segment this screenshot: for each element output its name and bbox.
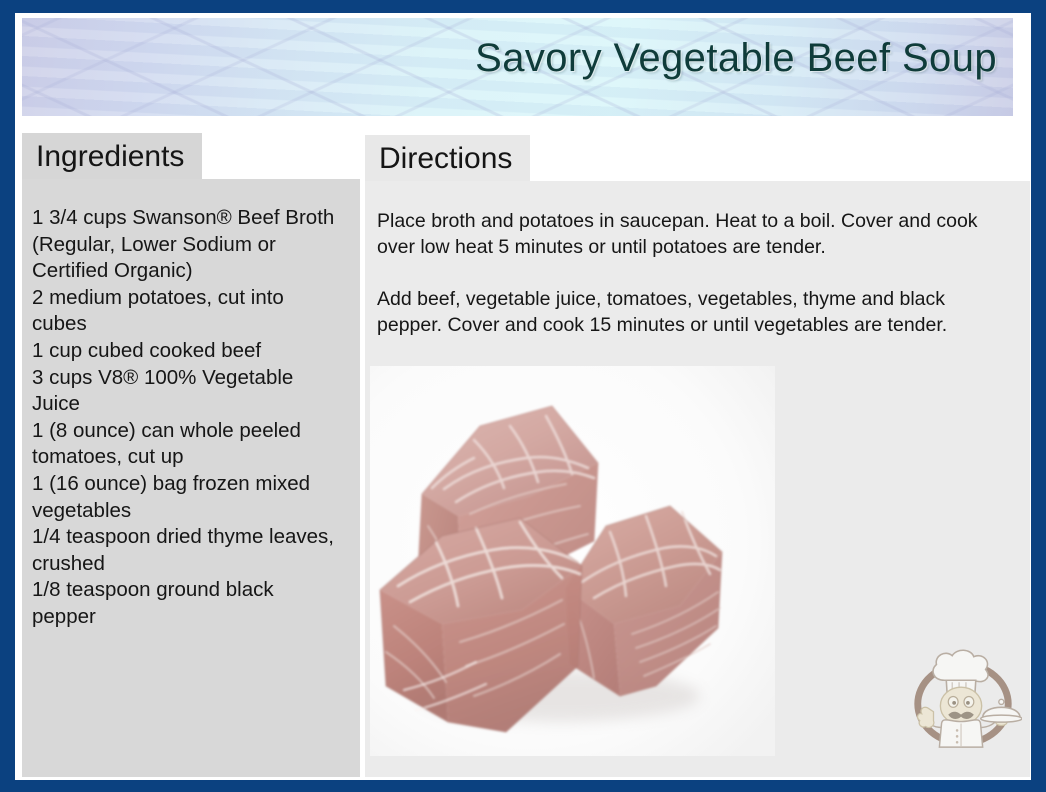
ingredients-panel: 1 3/4 cups Swanson® Beef Broth (Regular,… <box>22 179 360 777</box>
list-item: 1 (8 ounce) can whole peeled <box>32 418 352 445</box>
direction-step: Add beef, vegetable juice, tomatoes, veg… <box>377 286 1008 338</box>
list-item: 3 cups V8® 100% Vegetable <box>32 365 352 392</box>
tab-ingredients[interactable]: Ingredients <box>22 133 202 182</box>
list-item: Certified Organic) <box>32 258 352 285</box>
recipe-slide: Savory Vegetable Beef Soup Ingredients 1… <box>0 0 1046 792</box>
chef-logo-icon <box>904 637 1022 755</box>
tab-directions[interactable]: Directions <box>365 135 530 184</box>
directions-panel: Place broth and potatoes in saucepan. He… <box>365 181 1030 777</box>
list-item: vegetables <box>32 498 352 525</box>
list-item: 1/8 teaspoon ground black <box>32 577 352 604</box>
list-item: 1/4 teaspoon dried thyme leaves, <box>32 524 352 551</box>
list-item: 2 medium potatoes, cut into <box>32 285 352 312</box>
directions-text: Place broth and potatoes in saucepan. He… <box>365 181 1030 338</box>
list-item: pepper <box>32 604 352 631</box>
list-item: 1 cup cubed cooked beef <box>32 338 352 365</box>
page-title: Savory Vegetable Beef Soup <box>475 36 997 81</box>
list-item: 1 3/4 cups Swanson® Beef Broth <box>32 205 352 232</box>
ingredients-list: 1 3/4 cups Swanson® Beef Broth (Regular,… <box>22 179 360 631</box>
list-item: crushed <box>32 551 352 578</box>
list-item: (Regular, Lower Sodium or <box>32 232 352 259</box>
list-item: 1 (16 ounce) bag frozen mixed <box>32 471 352 498</box>
beef-cubes-photo <box>370 366 775 756</box>
slide-content-area: Savory Vegetable Beef Soup Ingredients 1… <box>15 13 1031 780</box>
list-item: Juice <box>32 391 352 418</box>
title-banner: Savory Vegetable Beef Soup <box>22 18 1013 116</box>
list-item: tomatoes, cut up <box>32 444 352 471</box>
direction-step: Place broth and potatoes in saucepan. He… <box>377 208 1008 260</box>
list-item: cubes <box>32 311 352 338</box>
